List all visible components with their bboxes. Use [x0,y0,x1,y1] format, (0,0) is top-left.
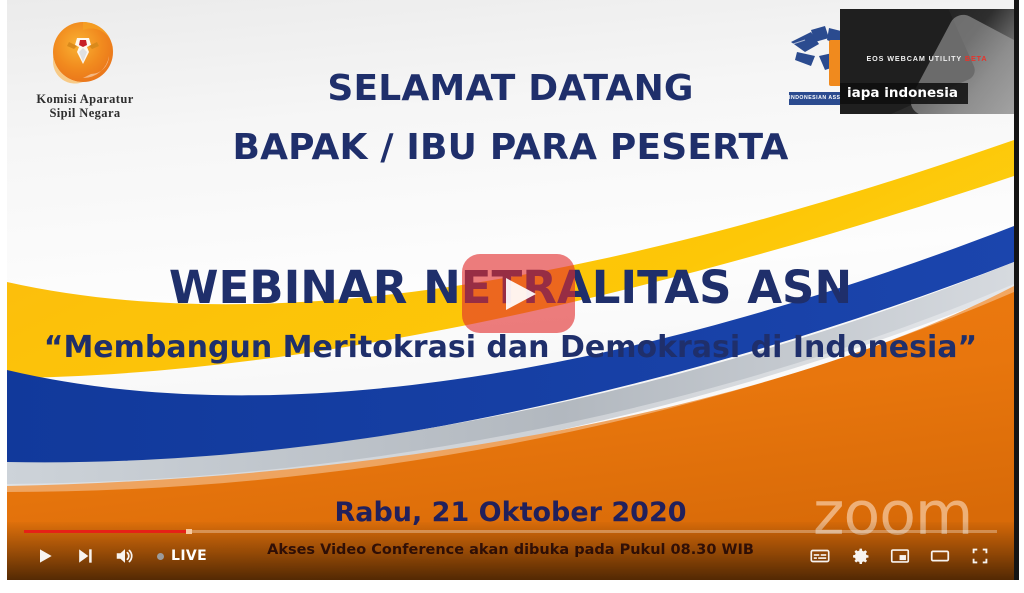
play-icon [35,546,55,566]
volume-button[interactable] [105,541,145,571]
miniplayer-icon [889,545,911,567]
subtitles-button[interactable] [800,541,840,571]
fullscreen-button[interactable] [960,541,1000,571]
slide-title-subtitle: “Membangun Meritokrasi dan Demokrasi di … [7,330,1014,365]
eos-webcam-utility-label: EOS WEBCAM UTILITY BETA [840,54,1014,63]
gear-icon [850,546,871,567]
miniplayer-button[interactable] [880,541,920,571]
volume-up-icon [114,545,136,567]
theater-button[interactable] [920,541,960,571]
live-label: LIVE [171,548,207,564]
video-player-frame: Komisi Aparatur Sipil Negara INDONESIAN … [7,0,1019,580]
slide-headline-line-2: BAPAK / IBU PARA PESERTA [7,127,1014,168]
video-surface[interactable]: Komisi Aparatur Sipil Negara INDONESIAN … [7,0,1014,580]
live-status-dot [157,553,164,560]
player-controls-right [800,541,1000,571]
settings-button[interactable] [840,541,880,571]
eos-label-text: EOS WEBCAM UTILITY [866,54,962,63]
play-icon [506,278,536,310]
next-button[interactable] [65,541,105,571]
play-button[interactable] [25,541,65,571]
player-controls-left: LIVE [25,541,207,571]
fullscreen-icon [969,545,991,567]
webcam-video-overlay[interactable]: EOS WEBCAM UTILITY BETA iapa indonesia [840,9,1014,114]
big-play-button[interactable] [462,254,575,333]
zoom-watermark: zoom [813,484,993,544]
progress-bar-played [24,530,189,533]
eos-beta-tag: BETA [965,54,988,63]
progress-bar-handle[interactable] [186,529,192,534]
subtitles-icon [809,545,831,567]
screenshot-root: Komisi Aparatur Sipil Negara INDONESIAN … [0,0,1024,593]
skip-next-icon [75,546,95,566]
theater-mode-icon [929,545,951,567]
player-frame-right-edge [1014,0,1019,580]
progress-bar-track[interactable] [24,530,997,533]
live-badge[interactable]: LIVE [157,548,207,564]
participant-name-label: iapa indonesia [840,83,968,104]
